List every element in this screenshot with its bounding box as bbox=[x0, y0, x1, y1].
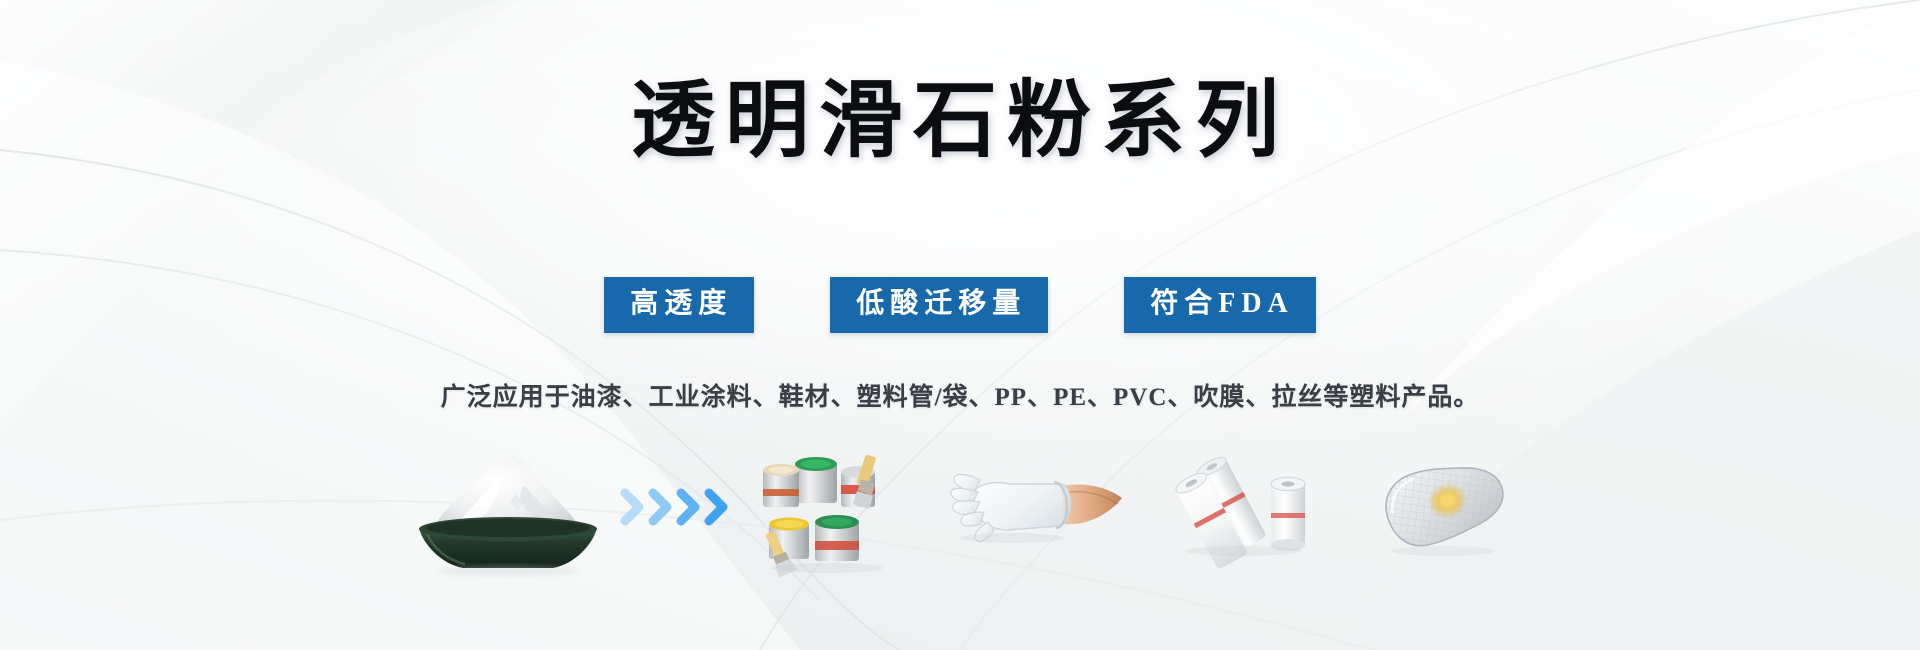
feature-badge-transparency: 高透度 bbox=[604, 277, 754, 333]
shoe-sole-icon bbox=[1373, 447, 1513, 567]
powder-bowl-icon bbox=[407, 440, 607, 575]
page-title: 透明滑石粉系列 bbox=[631, 78, 1289, 166]
banner-subtitle-container: 广泛应用于油漆、工业涂料、鞋材、塑料管/袋、PP、PE、PVC、吹膜、拉丝等塑料… bbox=[0, 377, 1920, 413]
glove-hand-icon bbox=[950, 450, 1125, 565]
feature-badge-fda-compliant: 符合FDA bbox=[1124, 277, 1316, 333]
product-banner: 透明滑石粉系列 高透度 低酸迁移量 符合FDA 广泛应用于油漆、工业涂料、鞋材、… bbox=[0, 0, 1920, 650]
application-description: 广泛应用于油漆、工业涂料、鞋材、塑料管/袋、PP、PE、PVC、吹膜、拉丝等塑料… bbox=[441, 377, 1480, 413]
banner-title-container: 透明滑石粉系列 bbox=[0, 78, 1920, 166]
product-image-strip bbox=[0, 432, 1920, 582]
chevron-arrows-icon bbox=[617, 477, 747, 537]
paint-cans-icon bbox=[757, 437, 902, 577]
feature-badge-low-acid-migration: 低酸迁移量 bbox=[830, 277, 1048, 333]
film-roll-icon bbox=[1171, 447, 1321, 567]
feature-badge-row: 高透度 低酸迁移量 符合FDA bbox=[0, 277, 1920, 333]
